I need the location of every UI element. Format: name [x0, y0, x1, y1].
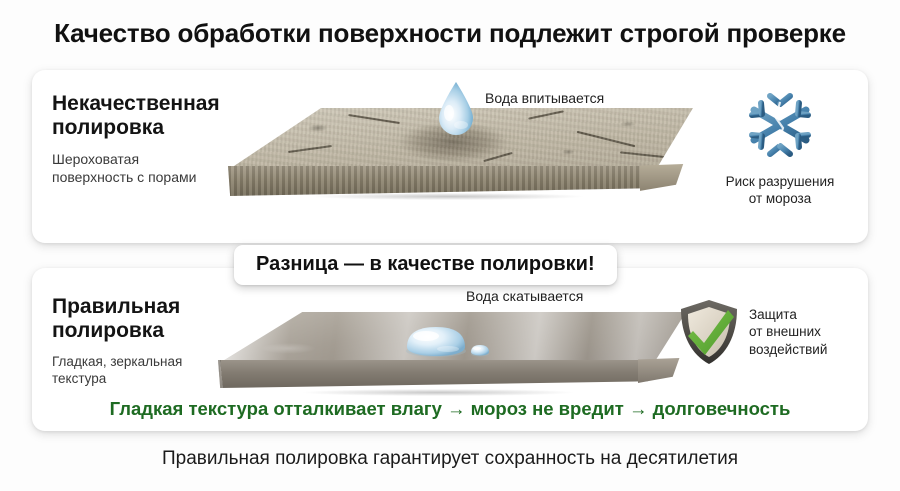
- protection-caption: Защита от внешних воздействий: [749, 306, 827, 359]
- frost-risk-caption: Риск разрушения от мороза: [700, 173, 860, 208]
- bad-text-block: Некачественная полировка Шероховатая пов…: [52, 92, 257, 186]
- beaded-water-drop: [404, 325, 468, 359]
- protection-block: Защита от внешних воздействий: [678, 298, 870, 366]
- polished-slab-shadow: [248, 388, 628, 397]
- footer-text: Правильная полировка гарантирует сохранн…: [0, 448, 900, 470]
- label-water-rolls: Вода скатывается: [466, 288, 583, 306]
- page-title: Качество обработки поверхности подлежит …: [0, 18, 900, 49]
- verdict-good: Гладкая текстура отталкивает влагу → мор…: [32, 398, 868, 420]
- falling-water-drop: [435, 80, 477, 136]
- rough-slab-shadow: [258, 192, 638, 201]
- bad-subtext: Шероховатая поверхность с порами: [52, 150, 257, 186]
- infographic-canvas: Качество обработки поверхности подлежит …: [0, 0, 900, 491]
- polished-slab-front-edge: [218, 360, 652, 388]
- frost-risk-block: Риск разрушения от мороза: [700, 88, 860, 208]
- rough-slab-side-edge: [640, 164, 700, 192]
- difference-banner: Разница — в качестве полировки!: [234, 245, 617, 285]
- label-water-absorbs: Вода впитывается: [485, 90, 604, 108]
- shield-check-icon: [678, 298, 740, 366]
- snowflake-icon: [743, 88, 817, 162]
- bad-heading: Некачественная полировка: [52, 92, 257, 141]
- beaded-water-droplet-small: [470, 344, 490, 357]
